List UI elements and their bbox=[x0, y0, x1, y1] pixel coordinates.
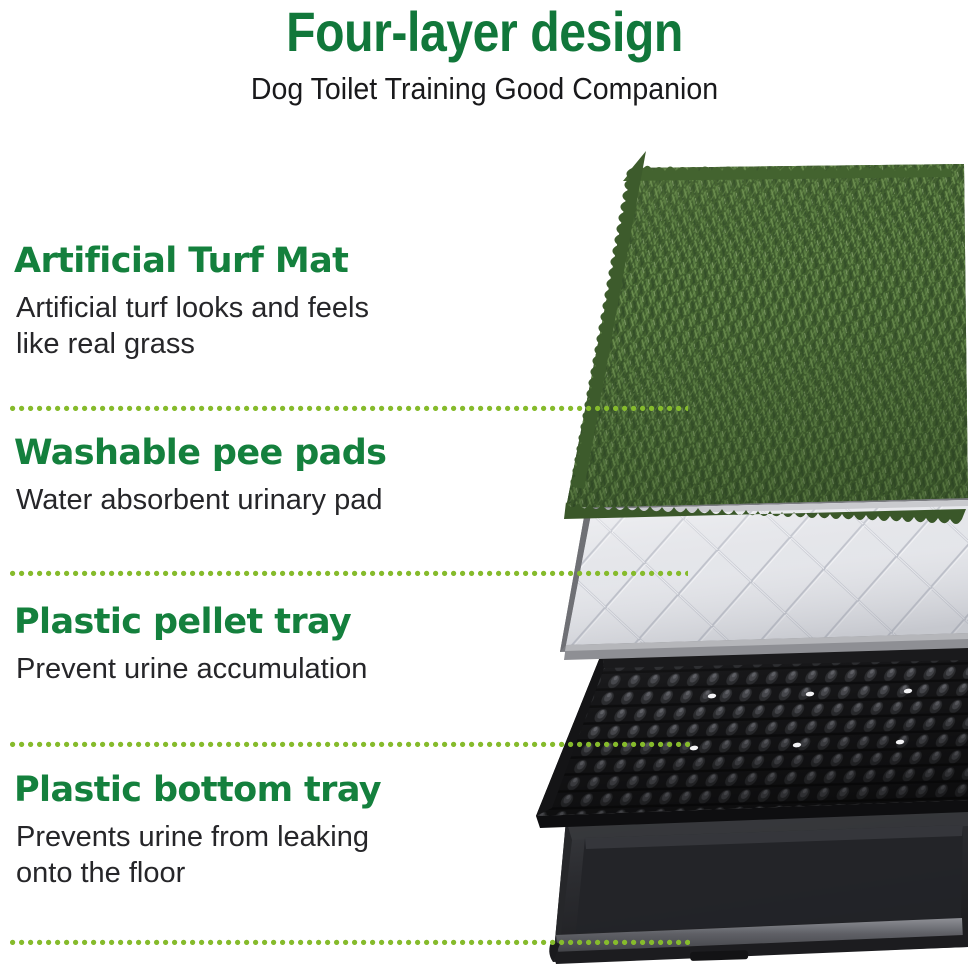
feature-heading-pellet-tray: Plastic pellet tray bbox=[14, 601, 367, 643]
section-divider-1 bbox=[10, 405, 688, 412]
section-divider-2 bbox=[10, 570, 688, 577]
page-title: Four-layer design bbox=[68, 2, 901, 62]
infographic-canvas: Four-layer design Dog Toilet Training Go… bbox=[0, 0, 969, 971]
feature-heading-pee-pads: Washable pee pads bbox=[14, 432, 386, 474]
feature-body-line: onto the floor bbox=[16, 855, 381, 891]
layer-plastic-pellet-tray bbox=[520, 640, 969, 828]
feature-body-bottom-tray: Prevents urine from leaking onto the flo… bbox=[16, 819, 381, 891]
section-divider-3 bbox=[10, 741, 690, 748]
feature-body-turf-mat: Artificial turf looks and feels like rea… bbox=[16, 290, 369, 362]
header: Four-layer design Dog Toilet Training Go… bbox=[0, 0, 969, 120]
feature-body-pellet-tray: Prevent urine accumulation bbox=[16, 651, 367, 687]
feature-body-pee-pads: Water absorbent urinary pad bbox=[16, 482, 386, 518]
feature-section-pee-pads: Washable pee pads Water absorbent urinar… bbox=[14, 432, 386, 518]
feature-body-line: Prevents urine from leaking bbox=[16, 819, 381, 855]
feature-section-pellet-tray: Plastic pellet tray Prevent urine accumu… bbox=[14, 601, 367, 687]
feature-section-bottom-tray: Plastic bottom tray Prevents urine from … bbox=[14, 769, 381, 891]
feature-body-line: like real grass bbox=[16, 326, 369, 362]
page-subtitle: Dog Toilet Training Good Companion bbox=[39, 70, 930, 108]
section-divider-4 bbox=[10, 939, 690, 946]
feature-body-line: Prevent urine accumulation bbox=[16, 651, 367, 687]
feature-section-turf-mat: Artificial Turf Mat Artificial turf look… bbox=[14, 240, 369, 362]
feature-body-line: Artificial turf looks and feels bbox=[16, 290, 369, 326]
feature-heading-turf-mat: Artificial Turf Mat bbox=[14, 240, 369, 282]
feature-heading-bottom-tray: Plastic bottom tray bbox=[14, 769, 381, 811]
feature-body-line: Water absorbent urinary pad bbox=[16, 482, 386, 518]
layer-artificial-turf-mat bbox=[556, 151, 969, 524]
